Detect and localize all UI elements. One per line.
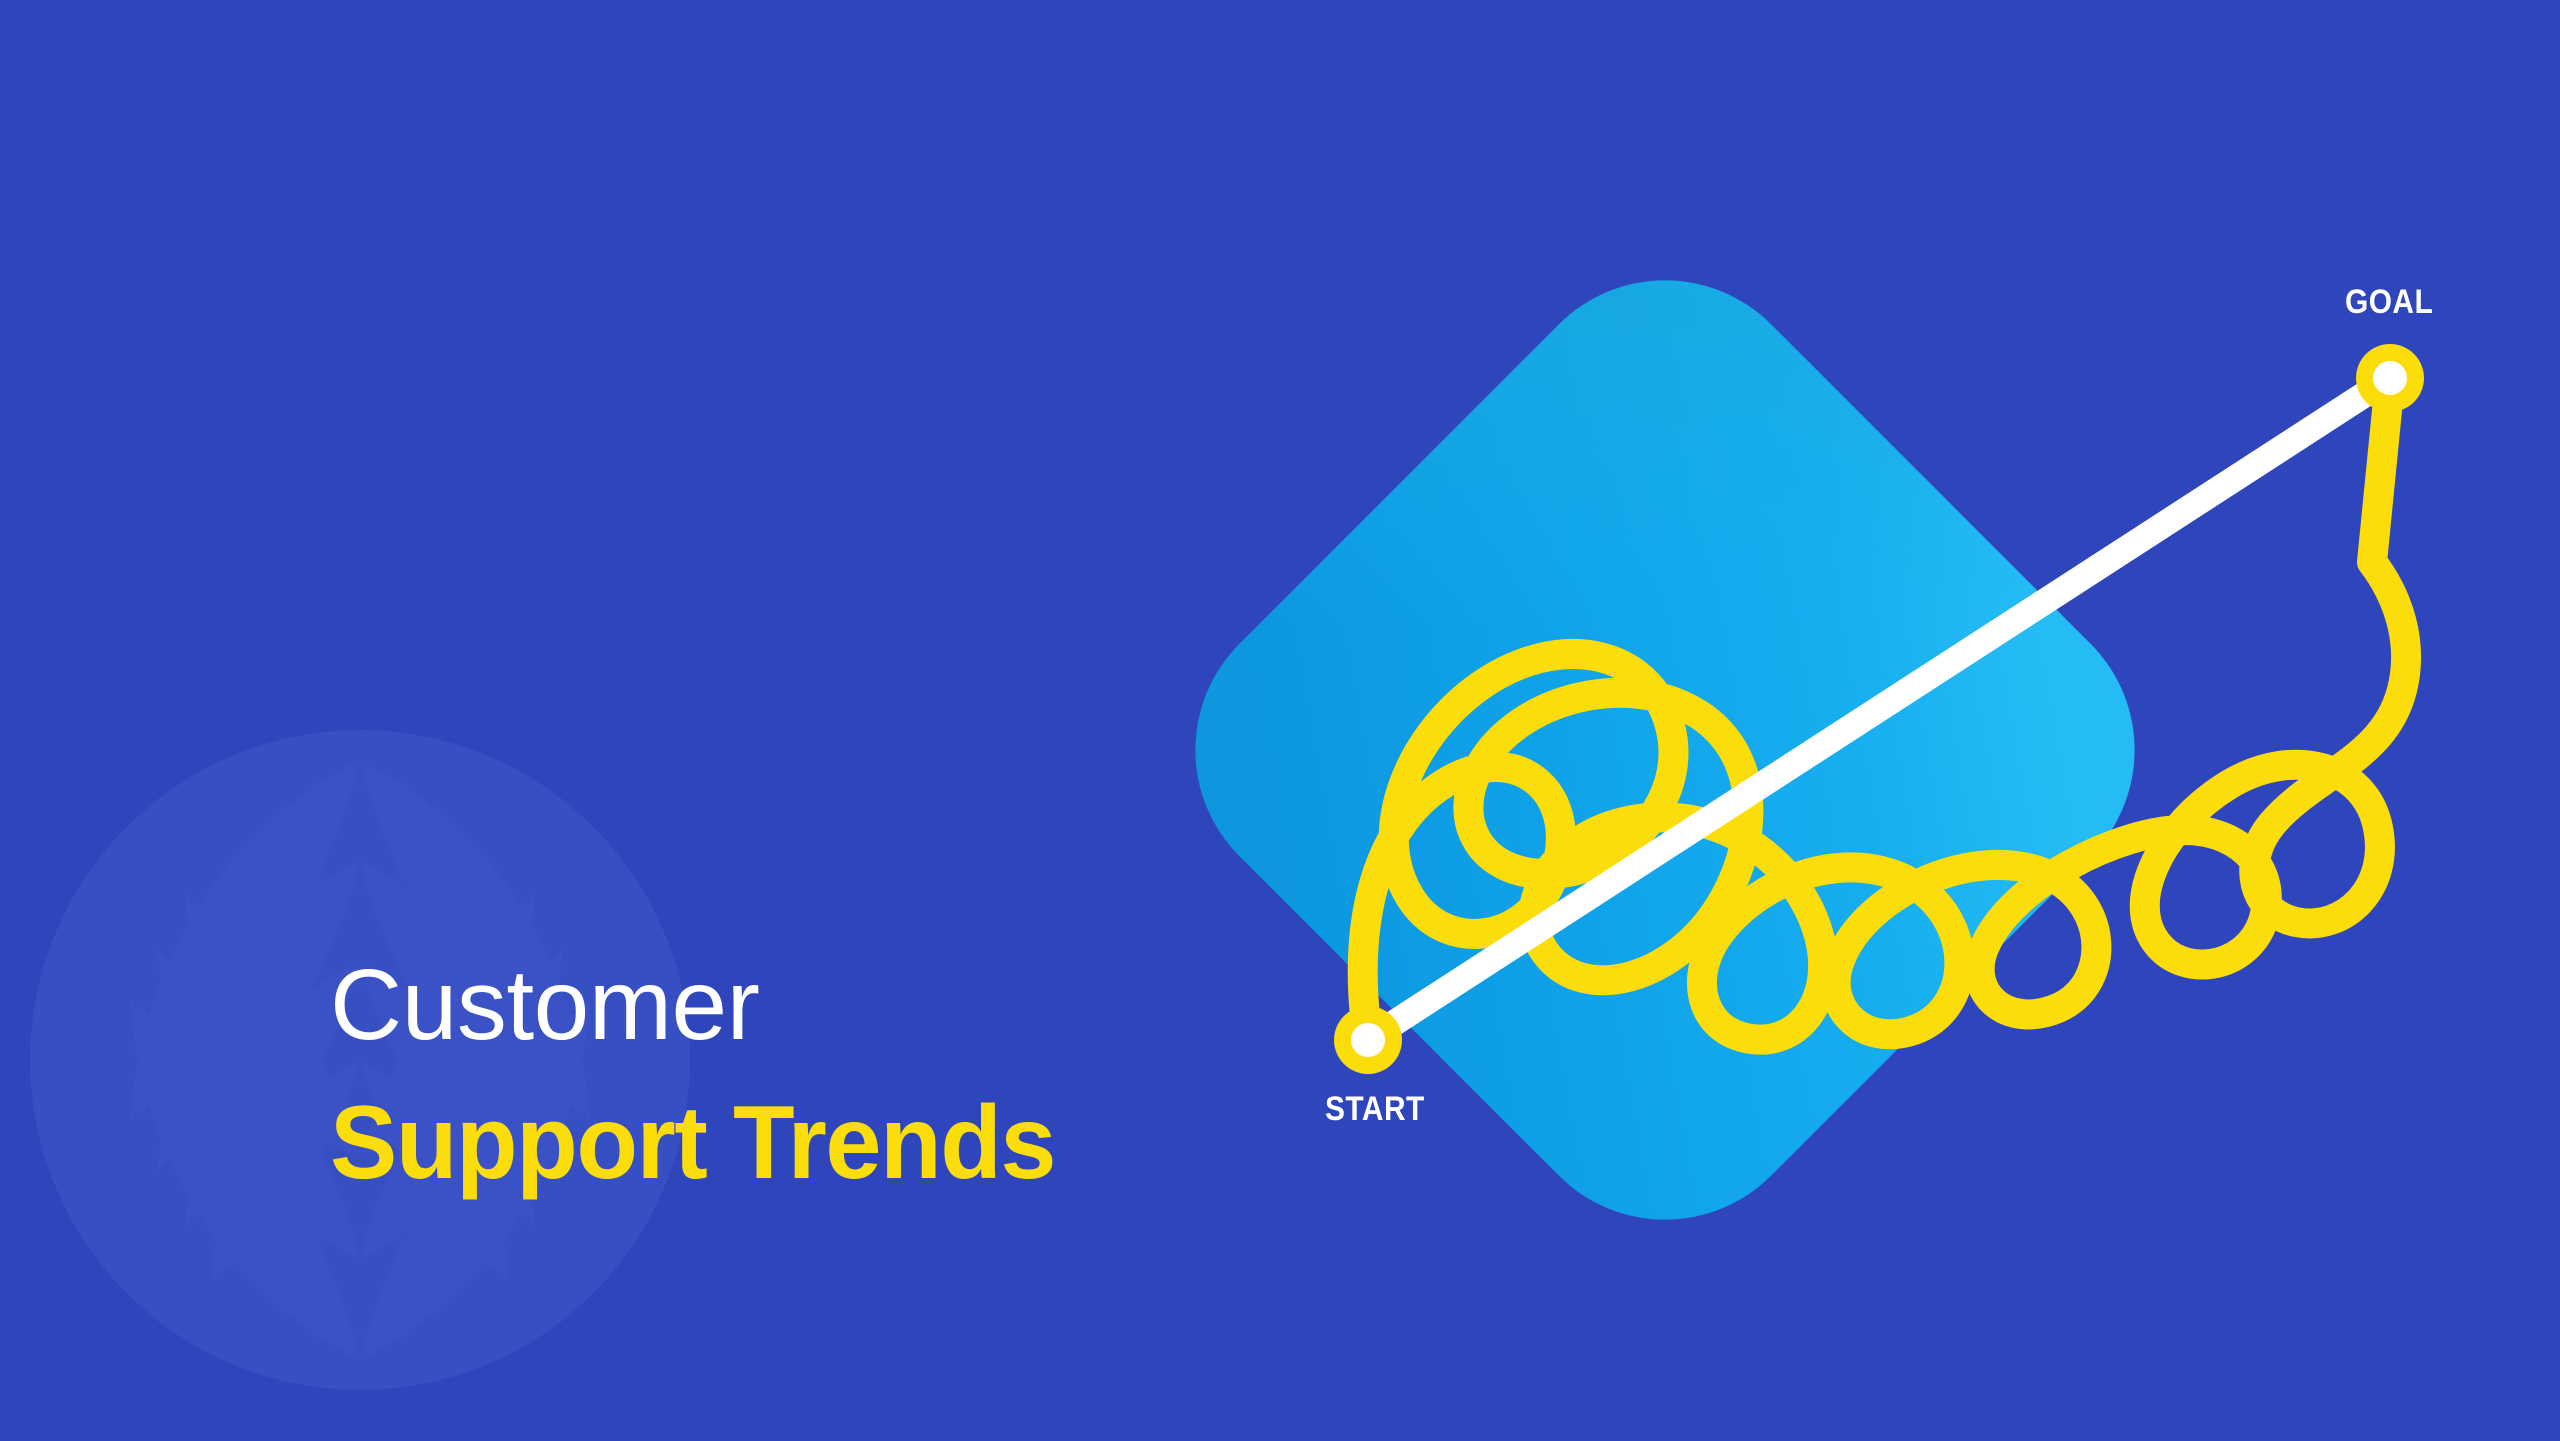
- start-label: START: [1325, 1090, 1425, 1129]
- squiggle-path: [1363, 380, 2406, 1040]
- headline-block: Customer Support Trends: [330, 955, 1330, 1195]
- headline-line-2: Support Trends: [330, 1091, 1300, 1195]
- journey-path-graphic: [1150, 130, 2550, 1130]
- headline-line-1: Customer: [330, 955, 1330, 1055]
- goal-label: GOAL: [2345, 283, 2433, 322]
- goal-marker: [2356, 344, 2424, 412]
- straight-path: [1368, 378, 2390, 1040]
- slide-canvas: START GOAL Customer Support Trends: [0, 0, 2560, 1441]
- start-marker: [1334, 1006, 1402, 1074]
